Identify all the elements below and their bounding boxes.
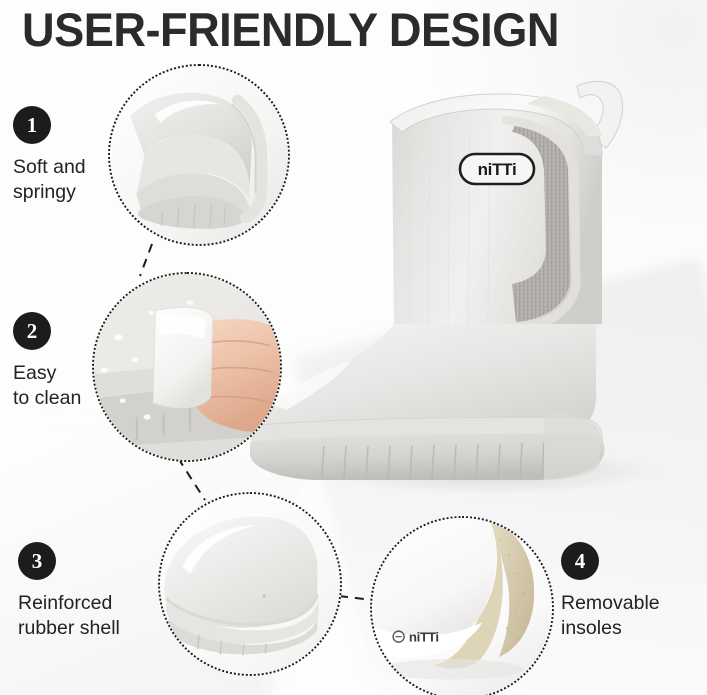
- callout-3: 3 Reinforced rubber shell: [18, 542, 120, 641]
- callout-1-label: Soft and springy: [13, 155, 86, 205]
- insole-shadow: [380, 659, 523, 679]
- toe-cap-speck: [263, 595, 266, 598]
- callout-2-number: 2: [13, 312, 51, 350]
- callout-1-number: 1: [13, 106, 51, 144]
- inset-reinforced-rubber-shell: [158, 492, 342, 676]
- callout-3-number: 3: [18, 542, 56, 580]
- brand-badge: niTTi: [460, 154, 534, 184]
- callout-2: 2 Easy to clean: [13, 312, 81, 411]
- inset-easy-to-clean: [92, 272, 282, 462]
- callout-4: 4 Removable insoles: [561, 542, 660, 641]
- product-infographic: USER-FRIENDLY DESIGN: [0, 0, 707, 695]
- insole-brand-text: niTTi: [409, 630, 439, 645]
- callout-1: 1 Soft and springy: [13, 106, 86, 205]
- callout-2-label: Easy to clean: [13, 361, 81, 411]
- inset-removable-insoles: niTTi: [370, 516, 554, 695]
- insole-brand-mark: niTTi: [393, 630, 439, 645]
- callout-4-number: 4: [561, 542, 599, 580]
- brand-badge-text: niTTi: [478, 160, 517, 179]
- callout-3-label: Reinforced rubber shell: [18, 591, 120, 641]
- page-title: USER-FRIENDLY DESIGN: [22, 6, 559, 54]
- callout-4-label: Removable insoles: [561, 591, 660, 641]
- main-product-boot: niTTi: [244, 74, 704, 504]
- inset-soft-and-springy: [108, 64, 290, 246]
